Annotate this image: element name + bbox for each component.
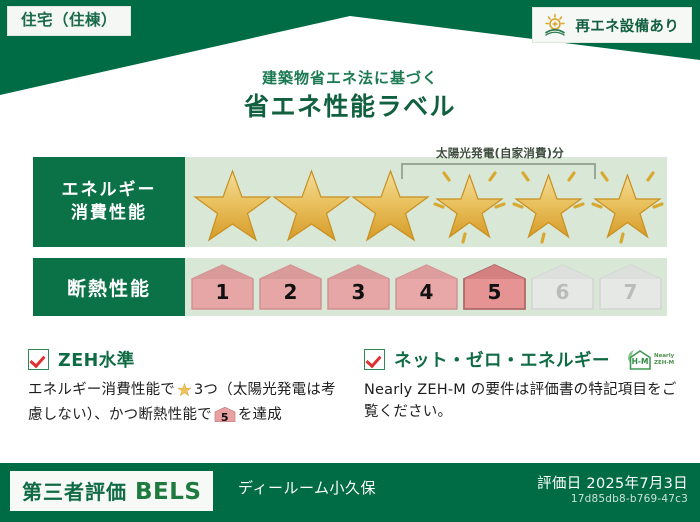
star-icon: [272, 157, 351, 247]
footer-bar: 第三者評価 BELS ディールーム小久保 評価日 2025年7月3日 17d85…: [0, 463, 700, 522]
bels-en-label: BELS: [135, 479, 201, 505]
house-grade-5-icon: 5: [214, 406, 236, 423]
criteria-section: ZEH水準 エネルギー消費性能で3つ（太陽光発電は考慮しない）、かつ断熱性能で5…: [28, 347, 678, 427]
zeh-text-part1: エネルギー消費性能で: [28, 382, 175, 398]
zeh-m-caption-line2: ZEH-M: [654, 360, 674, 366]
insulation-row-label: 断熱性能: [33, 258, 185, 316]
star-icon: [193, 157, 272, 247]
grade-value: 5: [461, 280, 528, 304]
body-panel: 建築物省エネ法に基づく 省エネ性能ラベル エネルギー 消費性能 太陽光発電(自家…: [0, 95, 700, 463]
building-type-tag: 住宅（住棟）: [7, 6, 131, 36]
criterion-zeh: ZEH水準 エネルギー消費性能で3つ（太陽光発電は考慮しない）、かつ断熱性能で5…: [28, 347, 342, 427]
zeh-m-caption: Nearly ZEH-M: [654, 353, 674, 366]
grade-value: 1: [189, 280, 256, 304]
svg-text:H-M: H-M: [632, 357, 649, 366]
criterion-net-zero-header: ネット・ゼロ・エネルギー H-M Nearly ZEH-M: [364, 347, 678, 372]
mini-grade-value: 5: [214, 409, 236, 426]
star-solar-icon: [509, 157, 588, 247]
grade-value: 2: [257, 280, 324, 304]
label-subtitle: 建築物省エネ法に基づく: [0, 67, 700, 88]
insulation-performance-row: 断熱性能 1 2: [33, 258, 667, 316]
criterion-zeh-title: ZEH水準: [58, 347, 135, 372]
criterion-net-zero: ネット・ゼロ・エネルギー H-M Nearly ZEH-M Nearly: [364, 347, 678, 427]
zeh-m-caption-line1: Nearly: [654, 353, 674, 359]
house-grade-5-current: 5: [461, 263, 528, 311]
grade-value: 3: [325, 280, 392, 304]
energy-performance-row: エネルギー 消費性能 太陽光発電(自家消費)分: [33, 157, 667, 247]
star-solar-icon: [588, 157, 667, 247]
criterion-zeh-header: ZEH水準: [28, 347, 342, 372]
zeh-text-part3: を達成: [238, 407, 282, 423]
grade-value: 4: [393, 280, 460, 304]
energy-label-line2: 消費性能: [71, 203, 147, 223]
label-title: 省エネ性能ラベル: [0, 87, 700, 123]
evaluation-id: 17d85db8-b769-47c3: [571, 493, 688, 505]
criterion-zeh-text: エネルギー消費性能で3つ（太陽光発電は考慮しない）、かつ断熱性能で5を達成: [28, 379, 342, 427]
energy-star-rating: [185, 157, 667, 247]
criterion-net-zero-title: ネット・ゼロ・エネルギー: [394, 347, 610, 372]
energy-label-line1: エネルギー: [62, 180, 157, 200]
insulation-row-body: 1 2 3 4: [185, 258, 667, 316]
bels-jp-label: 第三者評価: [22, 476, 127, 505]
energy-performance-label: 住宅（住棟） 再エネ設備あり 建築物省エネ法に基づく 省エネ性能ラベル エネル: [0, 0, 700, 522]
house-grade-3: 3: [325, 263, 392, 311]
bels-certification-badge: 第三者評価 BELS: [10, 471, 213, 511]
energy-row-body: 太陽光発電(自家消費)分: [185, 157, 667, 247]
house-grade-6: 6: [529, 263, 596, 311]
house-grade-2: 2: [257, 263, 324, 311]
star-icon: [176, 381, 193, 404]
grade-value: 6: [529, 280, 596, 304]
renewable-equipment-badge: 再エネ設備あり: [532, 7, 692, 43]
insulation-grade-scale: 1 2 3 4: [185, 258, 667, 316]
house-grade-1: 1: [189, 263, 256, 311]
check-icon: [364, 349, 385, 370]
energy-row-label: エネルギー 消費性能: [33, 157, 185, 247]
house-grade-7: 7: [597, 263, 664, 311]
renewable-badge-label: 再エネ設備あり: [575, 15, 679, 36]
criterion-net-zero-text: Nearly ZEH-M の要件は評価書の特記項目をご覧ください。: [364, 379, 678, 424]
star-solar-icon: [430, 157, 509, 247]
grade-value: 7: [597, 280, 664, 304]
nearly-zeh-m-icon: H-M Nearly ZEH-M: [624, 348, 674, 372]
house-grade-4: 4: [393, 263, 460, 311]
solar-sun-icon: [542, 13, 568, 37]
evaluation-date: 評価日 2025年7月3日: [537, 472, 688, 493]
star-icon: [351, 157, 430, 247]
property-name: ディールーム小久保: [238, 477, 376, 498]
check-icon: [28, 349, 49, 370]
